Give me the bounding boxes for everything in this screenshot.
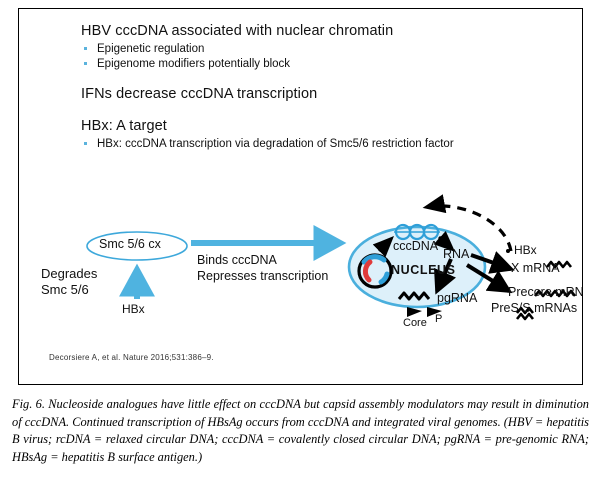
heading-cccdna-chromatin: HBV cccDNA associated with nuclear chrom… xyxy=(81,23,561,39)
binds-cccdna-label: Binds cccDNA xyxy=(197,253,277,267)
represses-transcription-label: Represses transcription xyxy=(197,269,328,283)
hbx-right-label: HBx xyxy=(514,244,537,258)
x-mrna-label: X mRNA xyxy=(511,261,560,275)
figure-caption: Fig. 6. Nucleoside analogues have little… xyxy=(12,396,589,466)
bullet-hbx-degradation: HBx: cccDNA transcription via degradatio… xyxy=(81,138,561,150)
smc-oval-label: Smc 5/6 cx xyxy=(99,237,161,251)
hbv-lifecycle-diagram: Smc 5/6 cx Degrades Smc 5/6 HBx Binds cc… xyxy=(19,179,583,339)
bullet-label: HBx: cccDNA transcription via degradatio… xyxy=(97,138,454,150)
core-label: Core xyxy=(403,317,427,330)
source-citation: Decorsiere A, et al. Nature 2016;531:386… xyxy=(49,353,214,362)
hbx-dot-icon xyxy=(506,249,510,253)
pgrna-label: pgRNA xyxy=(437,291,477,305)
bullet-dot-icon xyxy=(84,47,87,50)
core-marker-icon xyxy=(407,307,422,317)
precore-mrna-label: Precore mRNA xyxy=(508,285,583,299)
cccdna-label: cccDNA xyxy=(393,239,438,253)
degrades-label-line1: Degrades xyxy=(41,267,97,282)
bullet-dot-icon xyxy=(84,142,87,145)
bullet-epigenome-modifiers: Epigenome modifiers potentially block xyxy=(81,58,561,70)
p-label: P xyxy=(435,313,442,326)
nucleus-label: NUCLEUS xyxy=(391,263,456,277)
bullet-label: Epigenome modifiers potentially block xyxy=(97,58,290,70)
heading-ifns-decrease: IFNs decrease cccDNA transcription xyxy=(81,86,561,102)
bullet-label: Epigenetic regulation xyxy=(97,43,204,55)
slide-text-block: HBV cccDNA associated with nuclear chrom… xyxy=(81,23,561,153)
heading-hbx-target: HBx: A target xyxy=(81,118,561,134)
hbx-bottom-label: HBx xyxy=(122,303,145,317)
bullet-epigenetic-regulation: Epigenetic regulation xyxy=(81,43,561,55)
degrades-label-line2: Smc 5/6 xyxy=(41,283,89,298)
bullet-dot-icon xyxy=(84,62,87,65)
figure-frame: HBV cccDNA associated with nuclear chrom… xyxy=(18,8,583,385)
pres-s-mrnas-label: PreS/S mRNAs xyxy=(491,301,577,315)
rna-label: RNA xyxy=(443,247,469,261)
